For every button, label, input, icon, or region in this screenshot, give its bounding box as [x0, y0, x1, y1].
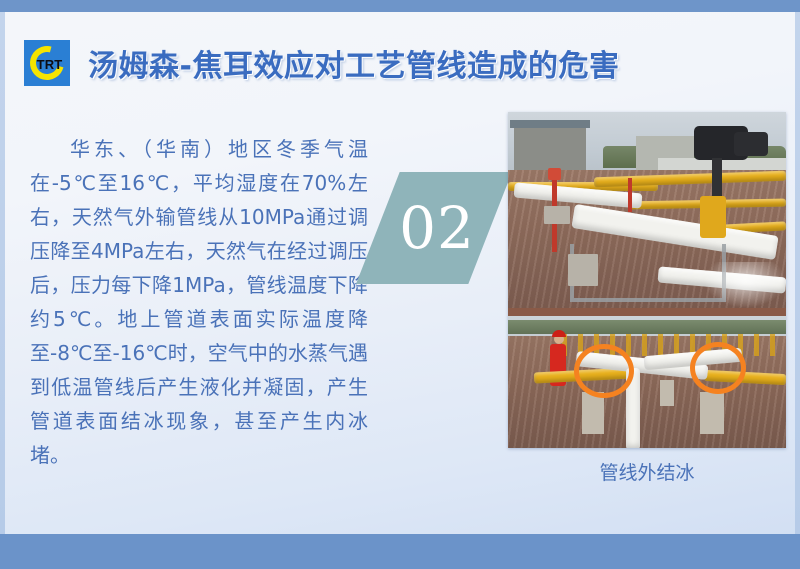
- body-paragraph: 华东、（华南）地区冬季气温在-5℃至16℃，平均湿度在70%左右，天然气外输管线…: [30, 132, 368, 472]
- concrete-pedestal: [700, 392, 724, 434]
- slide-header: TRT 汤姆森-焦耳效应对工艺管线造成的危害: [24, 40, 619, 86]
- red-post: [628, 178, 632, 212]
- logo-text: TRT: [32, 55, 63, 71]
- concrete-pedestal: [660, 380, 674, 406]
- building-roof: [510, 120, 590, 128]
- concrete-pedestal: [544, 206, 570, 224]
- section-number: 02: [356, 172, 512, 284]
- building: [514, 124, 586, 172]
- concrete-pedestal: [582, 392, 604, 434]
- red-post-cap: [548, 168, 561, 180]
- left-edge-strip: [0, 12, 5, 534]
- image-caption: 管线外结冰: [508, 458, 786, 485]
- page-title: 汤姆森-焦耳效应对工艺管线造成的危害: [88, 41, 619, 85]
- treeline: [508, 320, 786, 334]
- trt-logo: TRT: [24, 40, 70, 86]
- top-accent-band: [0, 0, 800, 12]
- concrete-pedestal: [568, 254, 598, 286]
- right-edge-strip: [795, 12, 800, 534]
- valve-stem: [712, 158, 722, 200]
- photo-pipeline-station: [508, 112, 786, 308]
- photo-worker-iced-pipeline: [508, 308, 786, 448]
- annotation-circle-left: [574, 344, 634, 398]
- annotation-circle-right: [690, 342, 746, 394]
- bottom-accent-band: [0, 534, 800, 569]
- yellow-actuator: [700, 196, 726, 238]
- worker-helmet: [552, 330, 566, 337]
- black-valve-actuator: [734, 132, 768, 156]
- slide: TRT 汤姆森-焦耳效应对工艺管线造成的危害 华东、（华南）地区冬季气温在-5℃…: [0, 0, 800, 569]
- frost-highlight: [704, 262, 786, 308]
- photo-stack: [508, 112, 786, 448]
